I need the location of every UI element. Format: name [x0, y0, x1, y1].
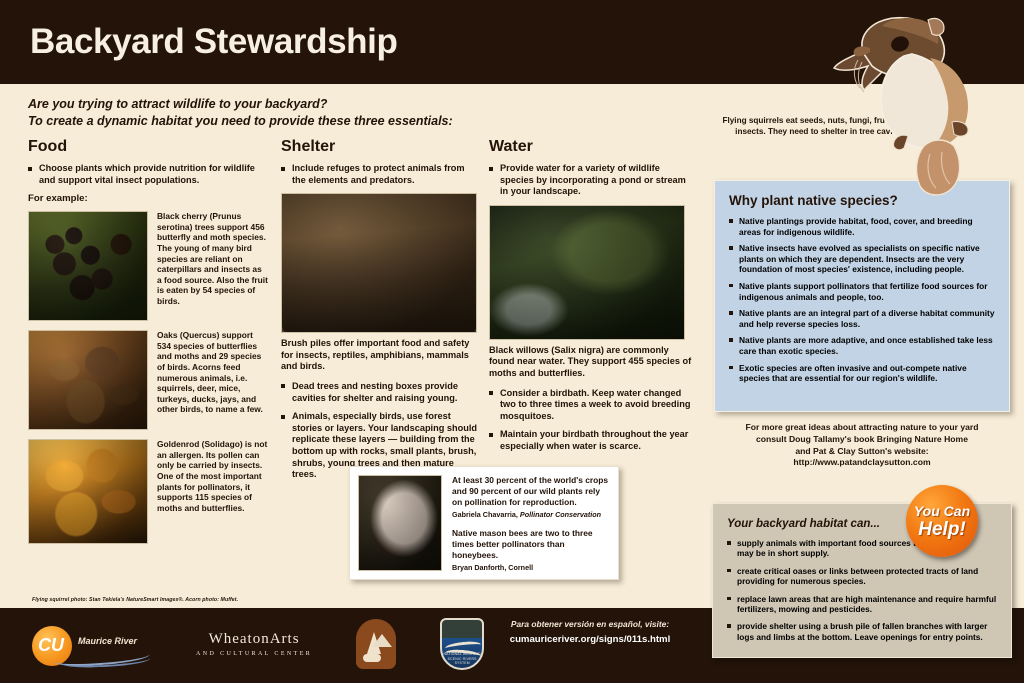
- intro-line-2: To create a dynamic habitat you need to …: [28, 113, 688, 130]
- black-willow-caption: Black willows (Salix nigra) are commonly…: [489, 345, 694, 380]
- native-bullet-1: Native plantings provide habitat, food, …: [729, 216, 995, 237]
- cu-maurice-river-logo[interactable]: CU Maurice River: [32, 620, 152, 668]
- page-title: Backyard Stewardship: [30, 22, 397, 62]
- spanish-version-url[interactable]: cumauriceriver.org/signs/011s.html: [430, 634, 750, 645]
- mason-bee-photo: [358, 475, 442, 571]
- pollination-source-1: Gabriela Chavarria, Pollinator Conservat…: [452, 509, 610, 520]
- habitat-bullet-1: supply animals with important food sourc…: [727, 538, 942, 559]
- goldenrod-photo: [28, 439, 148, 544]
- column-food-heading: Food: [28, 138, 268, 156]
- native-bullet-2: Native insects have evolved as specialis…: [729, 243, 995, 275]
- intro-text: Are you trying to attract wildlife to yo…: [28, 96, 688, 129]
- water-bullet-2: Consider a birdbath. Keep water changed …: [489, 388, 694, 423]
- footer-logos: CU Maurice River WheatonArts AND CULTURA…: [32, 614, 484, 674]
- flying-squirrel-caption: Flying squirrels eat seeds, nuts, fungi,…: [714, 115, 909, 137]
- native-bullet-5: Native plants are more adaptive, and onc…: [729, 335, 995, 356]
- pollination-box: At least 30 percent of the world's crops…: [349, 466, 619, 580]
- column-water-heading: Water: [489, 138, 694, 156]
- intro-line-1: Are you trying to attract wildlife to yo…: [28, 96, 688, 113]
- oak-acorn-photo: [28, 330, 148, 430]
- water-bullet-3: Maintain your birdbath throughout the ye…: [489, 429, 694, 452]
- more-ideas-line-1: For more great ideas about attracting na…: [712, 422, 1012, 434]
- habitat-bullet-3: replace lawn areas that are high mainten…: [727, 594, 997, 615]
- oak-text: Oaks (Quercus) support 534 species of bu…: [157, 330, 268, 430]
- nps-mountain-icon: [372, 634, 392, 647]
- more-ideas-url[interactable]: http://www.patandclaysutton.com: [712, 457, 1012, 469]
- native-species-heading: Why plant native species?: [729, 193, 995, 208]
- brush-pile-caption: Brush piles offer important food and saf…: [281, 338, 479, 373]
- pollination-text: At least 30 percent of the world's crops…: [452, 475, 610, 571]
- native-species-box: Why plant native species? Native plantin…: [714, 180, 1010, 412]
- food-entry-goldenrod: Goldenrod (Solidago) is not an allergen.…: [28, 439, 268, 544]
- food-bullet-1: Choose plants which provide nutrition fo…: [28, 163, 268, 186]
- national-park-service-logo[interactable]: [356, 619, 396, 669]
- pollination-source-1-name: Gabriela Chavarria,: [452, 510, 518, 519]
- more-ideas-block: For more great ideas about attracting na…: [712, 422, 1012, 469]
- water-bullet-1: Provide water for a variety of wildlife …: [489, 163, 694, 198]
- shelter-bullet-1: Include refuges to protect animals from …: [281, 163, 479, 186]
- habitat-bullet-4: provide shelter using a brush pile of fa…: [727, 621, 997, 642]
- wheaton-arts-logo[interactable]: WheatonArts AND CULTURAL CENTER: [196, 631, 312, 657]
- stream-willow-photo: [489, 205, 685, 340]
- column-food: Food Choose plants which provide nutriti…: [28, 138, 268, 553]
- brush-pile-photo: [281, 193, 477, 333]
- wheaton-arts-logo-text: WheatonArts: [196, 631, 312, 648]
- food-for-example-label: For example:: [28, 193, 268, 204]
- nps-bison-icon: [363, 654, 381, 662]
- native-bullet-3: Native plants support pollinators that f…: [729, 281, 995, 302]
- native-bullet-6: Exotic species are often invasive and ou…: [729, 363, 995, 384]
- native-bullet-4: Native plants are an integral part of a …: [729, 308, 995, 329]
- wsr-logo-text: NATIONAL WILD AND SCENIC RIVERS SYSTEM: [442, 652, 482, 665]
- maurice-river-logo-text: Maurice River: [78, 636, 137, 646]
- goldenrod-text: Goldenrod (Solidago) is not an allergen.…: [157, 439, 268, 544]
- spanish-version-note: Para obtener versión en español, visite:: [430, 619, 750, 629]
- wheaton-arts-logo-subtext: AND CULTURAL CENTER: [196, 651, 312, 657]
- you-can-help-badge: You Can Help!: [906, 485, 978, 557]
- help-badge-line-2: Help!: [918, 520, 966, 539]
- pollination-quote-1: At least 30 percent of the world's crops…: [452, 475, 610, 508]
- more-ideas-line-3: and Pat & Clay Sutton's website:: [712, 446, 1012, 458]
- poster-root: Backyard Stewardship Are you trying to a…: [0, 0, 1024, 683]
- pollination-source-2: Bryan Danforth, Cornell: [452, 562, 610, 573]
- food-entry-oaks: Oaks (Quercus) support 534 species of bu…: [28, 330, 268, 430]
- column-water: Water Provide water for a variety of wil…: [489, 138, 694, 460]
- black-cherry-text: Black cherry (Prunus serotina) trees sup…: [157, 211, 268, 321]
- cu-wave-icon-2: [62, 653, 150, 668]
- column-shelter: Shelter Include refuges to protect anima…: [281, 138, 479, 488]
- food-entry-black-cherry: Black cherry (Prunus serotina) trees sup…: [28, 211, 268, 321]
- pollination-quote-2: Native mason bees are two to three times…: [452, 528, 610, 561]
- pollination-spacer: [452, 520, 610, 528]
- shelter-bullet-2: Dead trees and nesting boxes provide cav…: [281, 381, 479, 404]
- habitat-bullet-2: create critical oases or links between p…: [727, 566, 997, 587]
- photo-credit-line: Flying squirrel photo: Stan Tekiela's Na…: [32, 597, 238, 603]
- help-badge-line-1: You Can: [914, 504, 970, 518]
- more-ideas-line-2: consult Doug Tallamy's book Bringing Nat…: [712, 434, 1012, 446]
- pollination-source-1-publication: Pollinator Conservation: [520, 510, 601, 519]
- black-cherry-photo: [28, 211, 148, 321]
- column-shelter-heading: Shelter: [281, 138, 479, 156]
